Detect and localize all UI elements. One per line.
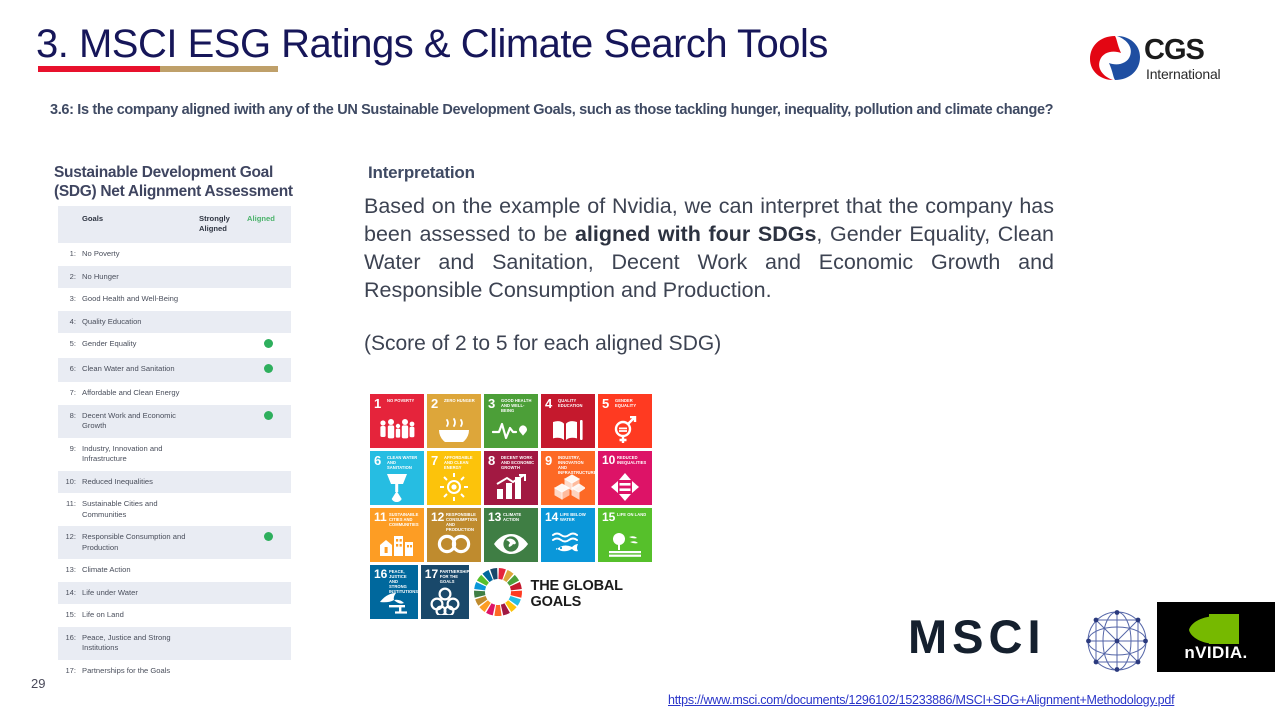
table-row: 1:No Poverty xyxy=(58,243,291,266)
sdg-tile-number: 12 xyxy=(431,511,444,524)
sdg-tile-pictogram-icon xyxy=(541,415,595,445)
sdg-tile-label: ZERO HUNGER xyxy=(444,398,479,403)
sdg-goal-tile-12: 12RESPONSIBLE CONSUMPTION AND PRODUCTION xyxy=(427,508,481,562)
cgs-swirl-icon xyxy=(1088,33,1142,83)
interpretation-score-note: (Score of 2 to 5 for each aligned SDG) xyxy=(364,331,1054,357)
table-row: 7:Affordable and Clean Energy xyxy=(58,382,291,405)
aligned-cell xyxy=(247,358,291,383)
table-row: 6:Clean Water and Sanitation xyxy=(58,358,291,383)
sdg-panel-heading-line1: Sustainable Development Goal xyxy=(54,164,273,181)
goal-name: Sustainable Cities and Communities xyxy=(80,493,199,526)
sdg-tile-label: CLEAN WATER AND SANITATION xyxy=(387,455,422,470)
goal-name: Peace, Justice and Strong Institutions xyxy=(80,627,199,660)
sdg-goal-tile-6: 6CLEAN WATER AND SANITATION xyxy=(370,451,424,505)
table-row: 11:Sustainable Cities and Communities xyxy=(58,493,291,526)
sdg-tile-label: DECENT WORK AND ECONOMIC GROWTH xyxy=(501,455,536,470)
sdg-tile-pictogram-icon xyxy=(370,415,424,445)
sdg-goal-tile-2: 2ZERO HUNGER xyxy=(427,394,481,448)
aligned-cell xyxy=(247,526,291,559)
sdg-goal-tile-17: 17PARTNERSHIPS FOR THE GOALS xyxy=(421,565,469,619)
sdg-panel-heading-line2: (SDG) Net Alignment Assessment xyxy=(54,183,293,200)
cgs-logo-subtext: International xyxy=(1146,66,1220,82)
nvidia-logo-text: nVIDIA. xyxy=(1157,643,1275,663)
table-row: 14:Life under Water xyxy=(58,582,291,605)
sdg-tile-number: 15 xyxy=(602,511,615,524)
sdg-tile-pictogram-icon xyxy=(427,472,481,502)
goal-index: 8: xyxy=(58,405,80,438)
column-header-strongly-aligned: Strongly Aligned xyxy=(199,206,247,243)
goal-index: 5: xyxy=(58,333,80,358)
sdg-tile-number: 3 xyxy=(488,397,495,410)
strongly-aligned-cell xyxy=(199,471,247,494)
sdg-tile-pictogram-icon xyxy=(370,472,424,502)
sdg-tile-row: 11SUSTAINABLE CITIES AND COMMUNITIES 12R… xyxy=(370,508,660,565)
sdg-goal-tile-3: 3GOOD HEALTH AND WELL-BEING xyxy=(484,394,538,448)
msci-logo-text: MSCI xyxy=(908,612,1046,662)
goal-name: Responsible Consumption and Production xyxy=(80,526,199,559)
sdg-tile-pictogram-icon xyxy=(484,472,538,502)
interpretation-body-bold: aligned with four SDGs xyxy=(575,222,816,246)
sdg-tile-pictogram-icon xyxy=(370,586,418,616)
sdg-tile-number: 5 xyxy=(602,397,609,410)
sdg-goal-tile-10: 10REDUCED INEQUALITIES xyxy=(598,451,652,505)
sdg-tile-number: 2 xyxy=(431,397,438,410)
column-header-goals: Goals xyxy=(80,206,199,243)
sdg-tile-pictogram-icon xyxy=(484,529,538,559)
aligned-cell xyxy=(247,559,291,582)
strongly-aligned-cell xyxy=(199,438,247,471)
sdg-global-goals-poster: 1NO POVERTY 2ZERO HUNGER 3GOOD HEALTH AN… xyxy=(366,390,664,630)
goal-index: 3: xyxy=(58,288,80,311)
table-row: 16:Peace, Justice and Strong Institution… xyxy=(58,627,291,660)
question-text: 3.6: Is the company aligned iwith any of… xyxy=(50,100,1190,120)
table-row: 13:Climate Action xyxy=(58,559,291,582)
aligned-cell xyxy=(247,660,291,683)
aligned-cell xyxy=(247,438,291,471)
slide-number: 29 xyxy=(31,676,45,691)
strongly-aligned-cell xyxy=(199,243,247,266)
sdg-tile-row: 1NO POVERTY 2ZERO HUNGER 3GOOD HEALTH AN… xyxy=(370,394,660,451)
sdg-goal-tile-15: 15LIFE ON LAND xyxy=(598,508,652,562)
sdg-colour-wheel-icon xyxy=(472,565,524,619)
goal-index: 13: xyxy=(58,559,80,582)
sdg-tile-number: 8 xyxy=(488,454,495,467)
sdg-tile-number: 9 xyxy=(545,454,552,467)
aligned-cell xyxy=(247,471,291,494)
strongly-aligned-cell xyxy=(199,311,247,334)
sdg-tile-number: 17 xyxy=(425,568,438,581)
sdg-goal-tile-8: 8DECENT WORK AND ECONOMIC GROWTH xyxy=(484,451,538,505)
goal-index: 4: xyxy=(58,311,80,334)
sdg-goal-tile-4: 4QUALITY EDUCATION xyxy=(541,394,595,448)
sdg-tile-pictogram-icon xyxy=(421,586,469,616)
strongly-aligned-cell xyxy=(199,288,247,311)
goal-name: Good Health and Well-Being xyxy=(80,288,199,311)
table-row: 10:Reduced Inequalities xyxy=(58,471,291,494)
cgs-international-logo: CGS International xyxy=(1088,33,1240,91)
sdg-tile-pictogram-icon xyxy=(484,415,538,445)
sdg-tile-number: 14 xyxy=(545,511,558,524)
aligned-dot-icon xyxy=(264,532,273,541)
table-row: 2:No Hunger xyxy=(58,266,291,289)
sdg-tile-pictogram-icon xyxy=(598,415,652,445)
goal-index: 6: xyxy=(58,358,80,383)
sdg-tile-label: LIFE ON LAND xyxy=(617,512,650,517)
aligned-cell xyxy=(247,582,291,605)
aligned-cell xyxy=(247,627,291,660)
sdg-alignment-table: Goals Strongly Aligned Aligned 1:No Pove… xyxy=(58,205,291,721)
aligned-cell xyxy=(247,288,291,311)
sdg-tile-label: GOOD HEALTH AND WELL-BEING xyxy=(501,398,536,413)
aligned-cell xyxy=(247,604,291,627)
title-rule-tan-segment xyxy=(160,66,278,72)
strongly-aligned-cell xyxy=(199,627,247,660)
aligned-dot-icon xyxy=(264,339,273,348)
goal-name: Industry, Innovation and Infrastructure xyxy=(80,438,199,471)
sdg-tile-pictogram-icon xyxy=(427,415,481,445)
msci-network-sphere-icon xyxy=(1086,610,1148,672)
sdg-tile-label: CLIMATE ACTION xyxy=(503,512,536,522)
strongly-aligned-cell xyxy=(199,660,247,683)
title-underline-rule xyxy=(38,66,278,72)
aligned-dot-icon xyxy=(264,411,273,420)
aligned-cell xyxy=(247,243,291,266)
aligned-cell xyxy=(247,382,291,405)
aligned-cell xyxy=(247,311,291,334)
sdg-tile-label: NO POVERTY xyxy=(387,398,422,403)
sdg-goal-tile-7: 7AFFORDABLE AND CLEAN ENERGY xyxy=(427,451,481,505)
sdg-tile-pictogram-icon xyxy=(370,529,424,559)
aligned-cell xyxy=(247,405,291,438)
strongly-aligned-cell xyxy=(199,266,247,289)
goal-index: 10: xyxy=(58,471,80,494)
goal-name: Gender Equality xyxy=(80,333,199,358)
aligned-dot-icon xyxy=(264,364,273,373)
sdg-tile-label: PARTNERSHIPS FOR THE GOALS xyxy=(440,569,467,584)
goal-index: 11: xyxy=(58,493,80,526)
slide-canvas: 3. MSCI ESG Ratings & Climate Search Too… xyxy=(0,0,1280,720)
goal-name: Partnerships for the Goals xyxy=(80,660,199,683)
table-row: 17:Partnerships for the Goals xyxy=(58,660,291,683)
sdg-tile-label: QUALITY EDUCATION xyxy=(558,398,593,408)
strongly-aligned-cell xyxy=(199,333,247,358)
sdg-tile-pictogram-icon xyxy=(598,529,652,559)
nvidia-logo: nVIDIA. xyxy=(1157,602,1275,672)
goal-index: 16: xyxy=(58,627,80,660)
goal-name: Clean Water and Sanitation xyxy=(80,358,199,383)
table-row: 8:Decent Work and Economic Growth xyxy=(58,405,291,438)
table-row: 12:Responsible Consumption and Productio… xyxy=(58,526,291,559)
sdg-tile-label: SUSTAINABLE CITIES AND COMMUNITIES xyxy=(389,512,422,527)
sdg-tile-number: 4 xyxy=(545,397,552,410)
sdg-tile-label: REDUCED INEQUALITIES xyxy=(617,455,650,465)
strongly-aligned-cell xyxy=(199,526,247,559)
sdg-tile-pictogram-icon xyxy=(541,529,595,559)
strongly-aligned-cell xyxy=(199,382,247,405)
page-title: 3. MSCI ESG Ratings & Climate Search Too… xyxy=(36,20,828,68)
sdg-goal-tile-1: 1NO POVERTY xyxy=(370,394,424,448)
goal-name: Climate Action xyxy=(80,559,199,582)
goal-index: 9: xyxy=(58,438,80,471)
sdg-tile-label: LIFE BELOW WATER xyxy=(560,512,593,522)
sdg-tile-number: 6 xyxy=(374,454,381,467)
goal-index: 14: xyxy=(58,582,80,605)
strongly-aligned-cell xyxy=(199,358,247,383)
sdg-tile-number: 11 xyxy=(374,511,387,524)
table-row: 9:Industry, Innovation and Infrastructur… xyxy=(58,438,291,471)
strongly-aligned-cell xyxy=(199,405,247,438)
sdg-panel-heading: Sustainable Development Goal (SDG) Net A… xyxy=(54,163,354,201)
goal-name: Quality Education xyxy=(80,311,199,334)
goal-index: 15: xyxy=(58,604,80,627)
goal-name: No Hunger xyxy=(80,266,199,289)
global-goals-caption: THE GLOBAL GOALS xyxy=(531,565,660,622)
sdg-tile-row: 6CLEAN WATER AND SANITATION 7AFFORDABLE … xyxy=(370,451,660,508)
sdg-tile-grid: 1NO POVERTY 2ZERO HUNGER 3GOOD HEALTH AN… xyxy=(370,394,660,622)
interpretation-body: Based on the example of Nvidia, we can i… xyxy=(364,192,1054,304)
title-rule-red-segment xyxy=(38,66,160,72)
sdg-tile-row: 16PEACE, JUSTICE AND STRONG INSTITUTIONS… xyxy=(370,565,660,622)
sdg-goal-tile-16: 16PEACE, JUSTICE AND STRONG INSTITUTIONS xyxy=(370,565,418,619)
goal-index: 17: xyxy=(58,660,80,683)
goal-name: No Poverty xyxy=(80,243,199,266)
goal-index: 12: xyxy=(58,526,80,559)
strongly-aligned-cell xyxy=(199,604,247,627)
sdg-goal-tile-11: 11SUSTAINABLE CITIES AND COMMUNITIES xyxy=(370,508,424,562)
strongly-aligned-cell xyxy=(199,559,247,582)
strongly-aligned-cell xyxy=(199,493,247,526)
table-row: 5:Gender Equality xyxy=(58,333,291,358)
column-header-index xyxy=(58,206,80,243)
aligned-cell xyxy=(247,493,291,526)
goal-index: 7: xyxy=(58,382,80,405)
sdg-goal-tile-14: 14LIFE BELOW WATER xyxy=(541,508,595,562)
cgs-logo-text: CGS xyxy=(1144,35,1204,65)
sdg-goal-tile-9: 9INDUSTRY, INNOVATION AND INFRASTRUCTURE xyxy=(541,451,595,505)
sdg-tile-pictogram-icon xyxy=(427,529,481,559)
aligned-cell xyxy=(247,333,291,358)
table-row: 15:Life on Land xyxy=(58,604,291,627)
aligned-cell xyxy=(247,266,291,289)
sdg-tile-number: 7 xyxy=(431,454,438,467)
sdg-tile-label: GENDER EQUALITY xyxy=(615,398,650,408)
goal-name: Life on Land xyxy=(80,604,199,627)
interpretation-title: Interpretation xyxy=(368,163,475,183)
goal-name: Affordable and Clean Energy xyxy=(80,382,199,405)
sdg-tile-pictogram-icon xyxy=(541,472,595,502)
goal-name: Decent Work and Economic Growth xyxy=(80,405,199,438)
goal-name: Life under Water xyxy=(80,582,199,605)
sdg-goal-tile-13: 13CLIMATE ACTION xyxy=(484,508,538,562)
strongly-aligned-cell xyxy=(199,582,247,605)
sdg-tile-pictogram-icon xyxy=(598,472,652,502)
sdg-goal-tile-5: 5GENDER EQUALITY xyxy=(598,394,652,448)
sdg-tile-number: 1 xyxy=(374,397,381,410)
table-header-row: Goals Strongly Aligned Aligned xyxy=(58,206,291,243)
table-row: 3:Good Health and Well-Being xyxy=(58,288,291,311)
sdg-table-body: 1:No Poverty2:No Hunger3:Good Health and… xyxy=(58,243,291,682)
sdg-tile-number: 16 xyxy=(374,568,387,581)
source-link[interactable]: https://www.msci.com/documents/1296102/1… xyxy=(668,693,1174,707)
msci-logo: MSCI xyxy=(908,606,1148,670)
goal-index: 2: xyxy=(58,266,80,289)
sdg-tile-number: 13 xyxy=(488,511,501,524)
column-header-aligned: Aligned xyxy=(247,206,291,243)
sdg-tile-number: 10 xyxy=(602,454,615,467)
sdg-tile-label: AFFORDABLE AND CLEAN ENERGY xyxy=(444,455,479,470)
table-row: 4:Quality Education xyxy=(58,311,291,334)
goal-name: Reduced Inequalities xyxy=(80,471,199,494)
goal-index: 1: xyxy=(58,243,80,266)
